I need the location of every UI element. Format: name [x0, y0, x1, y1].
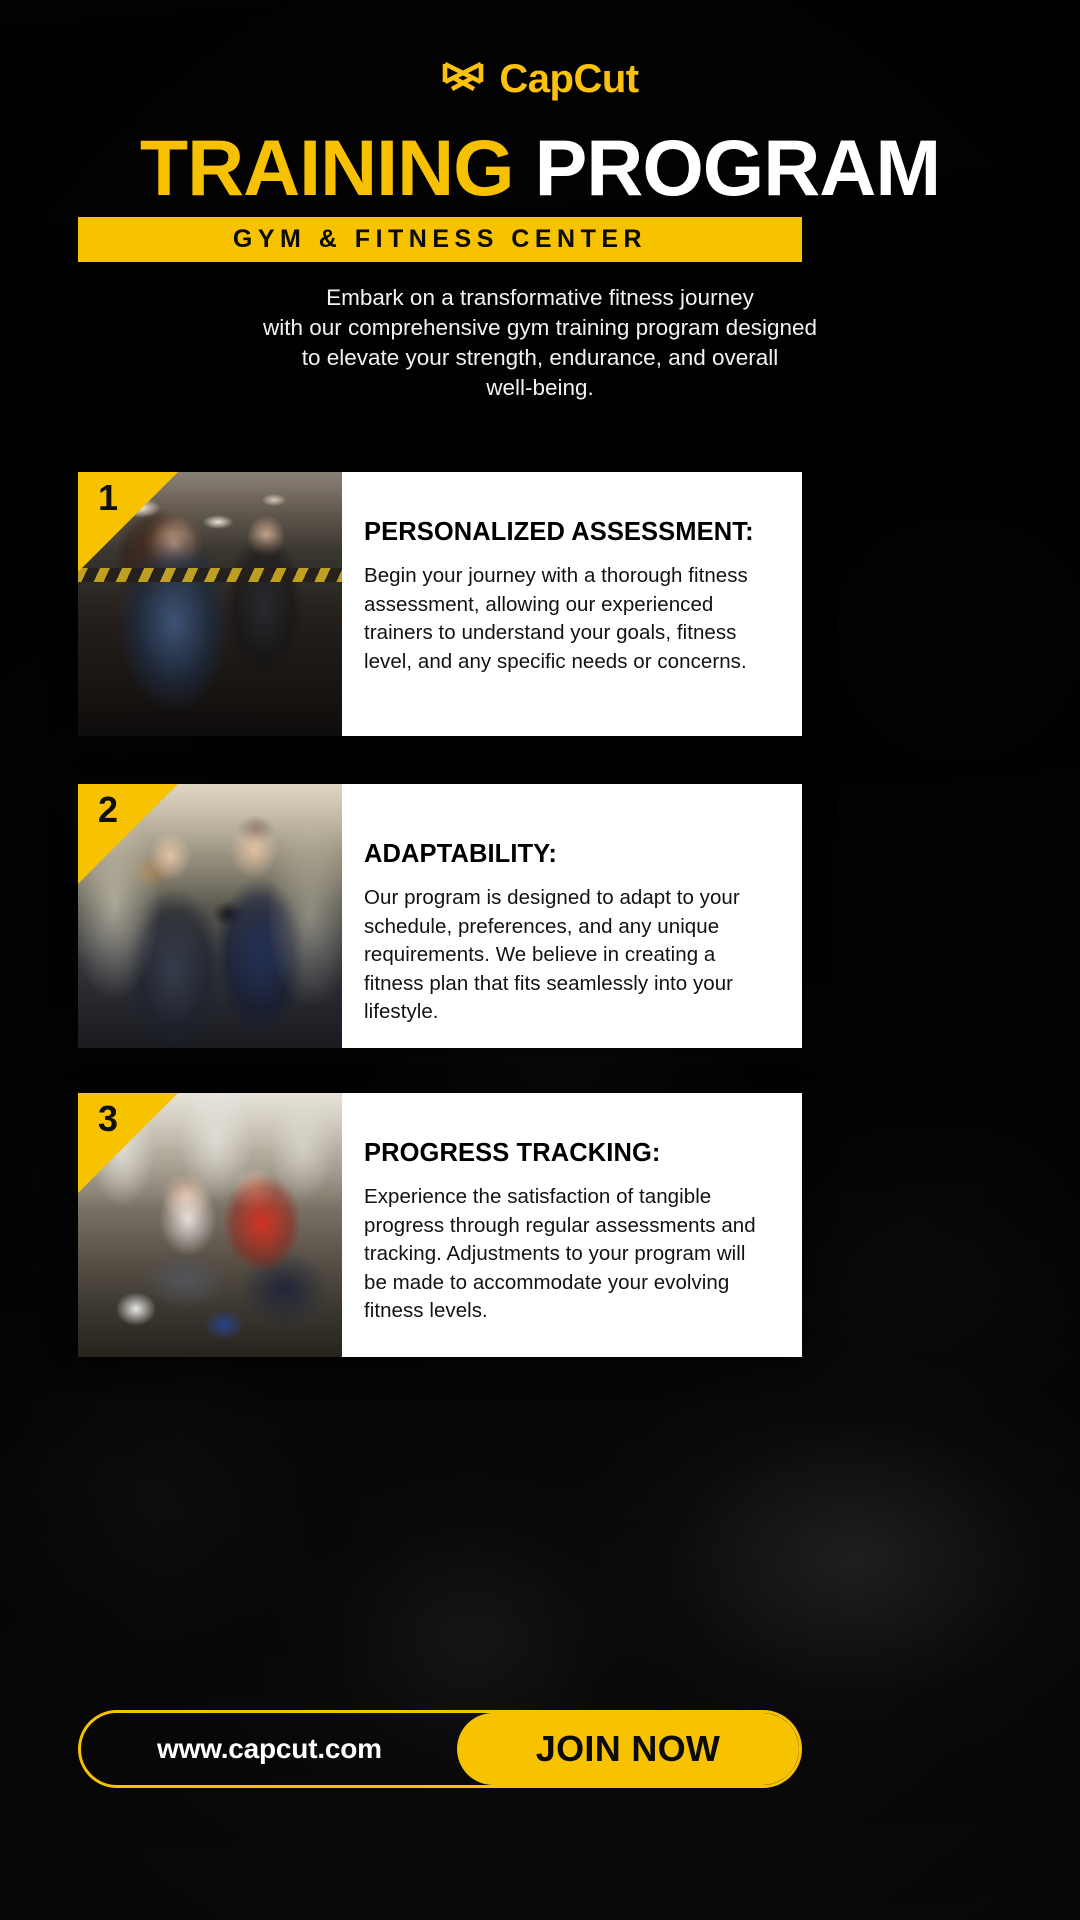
- page-title-plain: PROGRAM: [535, 123, 941, 212]
- card-text: Experience the satisfaction of tangible …: [364, 1183, 768, 1326]
- badge-triangle-icon: [78, 472, 178, 572]
- website-url-area[interactable]: www.capcut.com: [81, 1713, 457, 1785]
- card-photo: 2: [78, 784, 342, 1048]
- card-title: PERSONALIZED ASSESSMENT:: [364, 518, 768, 546]
- join-now-label: JOIN NOW: [536, 1728, 720, 1770]
- step-number: 3: [98, 1101, 118, 1137]
- badge-triangle-icon: [78, 784, 178, 884]
- card-text: Begin your journey with a thorough fitne…: [364, 562, 768, 676]
- step-number: 2: [98, 792, 118, 828]
- website-url[interactable]: www.capcut.com: [157, 1733, 382, 1765]
- card-body: ADAPTABILITY: Our program is designed to…: [342, 784, 802, 1048]
- feature-card: 2 ADAPTABILITY: Our program is designed …: [78, 784, 802, 1048]
- card-photo: 1: [78, 472, 342, 736]
- badge-triangle-icon: [78, 1093, 178, 1193]
- card-body: PERSONALIZED ASSESSMENT: Begin your jour…: [342, 472, 802, 736]
- card-text: Our program is designed to adapt to your…: [364, 884, 768, 1027]
- capcut-logo-icon: [441, 58, 485, 100]
- step-number-badge: 1: [78, 472, 178, 572]
- step-number-badge: 2: [78, 784, 178, 884]
- feature-card: 3 PROGRESS TRACKING: Experience the sati…: [78, 1093, 802, 1357]
- page-title: TRAINING PROGRAM: [0, 128, 1080, 207]
- feature-card: 1 PERSONALIZED ASSESSMENT: Begin your jo…: [78, 472, 802, 736]
- poster-stage: CapCut TRAINING PROGRAM GYM & FITNESS CE…: [0, 0, 1080, 1920]
- subtitle-banner: GYM & FITNESS CENTER: [78, 217, 802, 262]
- card-photo: 3: [78, 1093, 342, 1357]
- join-now-button[interactable]: JOIN NOW: [457, 1713, 799, 1785]
- brand-logo: CapCut: [0, 58, 1080, 100]
- footer-cta-bar: www.capcut.com JOIN NOW: [78, 1710, 802, 1788]
- card-title: ADAPTABILITY:: [364, 840, 768, 868]
- page-title-highlight: TRAINING: [140, 123, 514, 212]
- card-title: PROGRESS TRACKING:: [364, 1139, 768, 1167]
- step-number: 1: [98, 480, 118, 516]
- brand-logo-text: CapCut: [499, 59, 638, 99]
- card-body: PROGRESS TRACKING: Experience the satisf…: [342, 1093, 802, 1357]
- subtitle-text: GYM & FITNESS CENTER: [233, 225, 647, 254]
- step-number-badge: 3: [78, 1093, 178, 1193]
- intro-paragraph: Embark on a transformative fitness journ…: [140, 283, 940, 403]
